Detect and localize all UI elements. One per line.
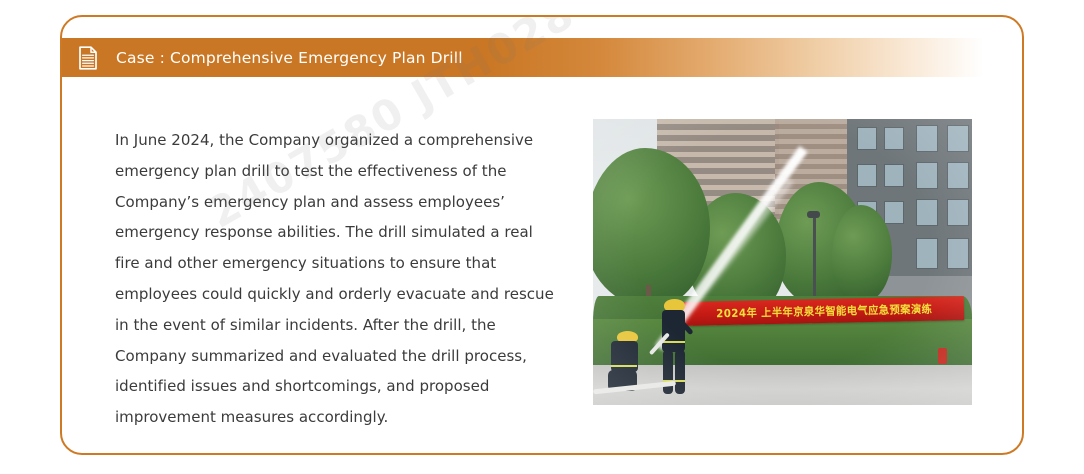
drill-photo: 2024年 上半年京泉华智能电气应急预案演练 — [593, 119, 972, 405]
case-card: 2407580 JTH02808035 Case : Comprehensive… — [60, 15, 1024, 455]
case-paragraph: In June 2024, the Company organized a co… — [115, 125, 555, 433]
case-body: In June 2024, the Company organized a co… — [62, 77, 1022, 455]
case-header-bar: Case : Comprehensive Emergency Plan Dril… — [62, 38, 1022, 77]
document-icon — [78, 46, 98, 70]
case-title: Case : Comprehensive Emergency Plan Dril… — [116, 49, 463, 67]
photo-overlay — [593, 119, 972, 405]
